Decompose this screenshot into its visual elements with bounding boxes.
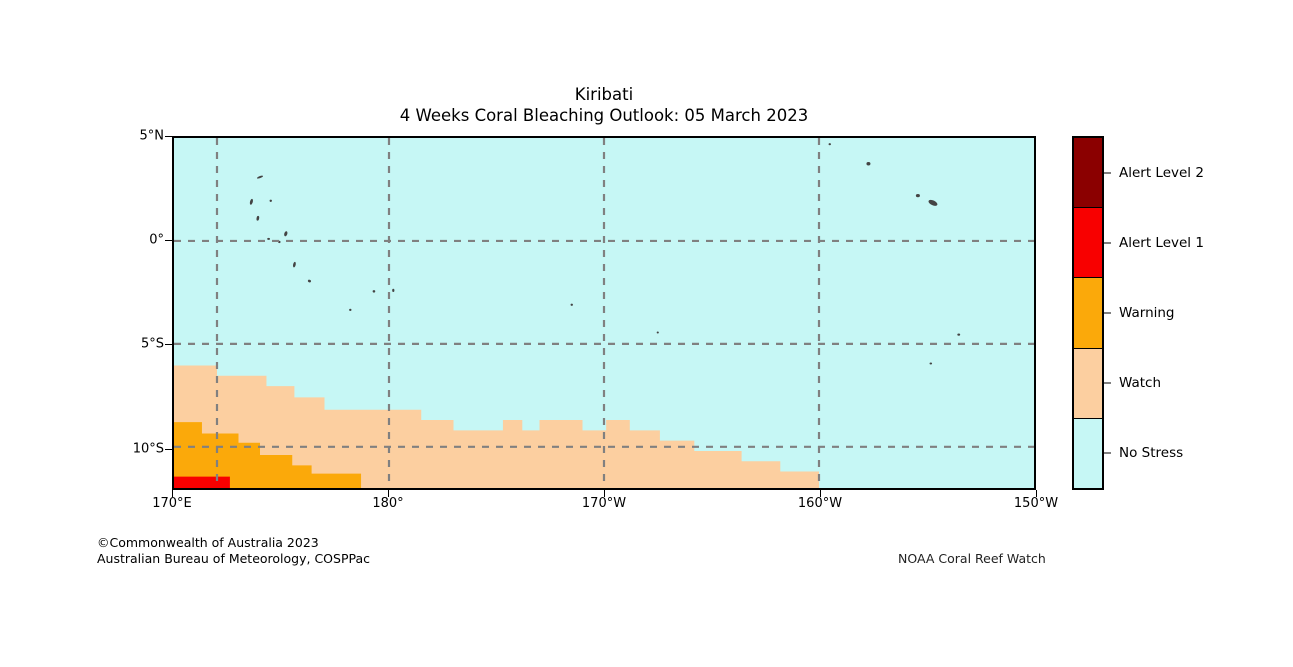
island-marker [866,162,870,165]
island-marker [392,289,394,292]
copyright-line-1: ©Commonwealth of Australia 2023 [97,535,370,551]
legend-swatch-watch[interactable] [1074,349,1102,419]
island-marker [270,200,272,202]
island-marker [916,194,920,197]
ytick-label-5s: 5°S [141,337,164,352]
y-axis-tick-labels: 5°N 0° 5°S 10°S [88,136,164,490]
attribution-notice: NOAA Coral Reef Watch [898,551,1046,566]
ytick-mark-5s [165,344,172,345]
island-marker [957,334,960,336]
island-marker [829,143,831,145]
legend-labels: Alert Level 2Alert Level 1WarningWatchNo… [1104,136,1284,490]
chart-subtitle: 4 Weeks Coral Bleaching Outlook: 05 Marc… [172,105,1036,126]
map-plot-area[interactable] [172,136,1036,490]
figure-canvas: Kiribati 4 Weeks Coral Bleaching Outlook… [0,0,1293,667]
ytick-label-5n: 5°N [140,129,165,144]
coral-bleaching-heatmap [174,138,1034,488]
island-marker [373,290,376,292]
legend-label-warning: Warning [1119,305,1175,321]
x-axis-tick-labels: 170°E 180° 170°W 160°W 150°W [172,496,1036,518]
xtick-label-150w: 150°W [1014,496,1058,511]
legend-label-no-stress: No Stress [1119,445,1183,461]
xtick-label-170e: 170°E [152,496,192,511]
ytick-mark-5n [165,136,172,137]
page-title: Kiribati [172,84,1036,105]
xtick-label-160w: 160°W [798,496,842,511]
ytick-mark-0 [165,240,172,241]
ytick-mark-10s [165,449,172,450]
legend-swatch-no-stress[interactable] [1074,419,1102,488]
legend-tick-no-stress [1104,453,1111,454]
legend-label-watch: Watch [1119,375,1161,391]
legend-label-alert-level-2: Alert Level 2 [1119,165,1204,181]
xtick-label-180: 180° [372,496,403,511]
ytick-label-10s: 10°S [133,441,164,456]
ytick-label-0: 0° [149,233,164,248]
legend-tick-warning [1104,313,1111,314]
legend-swatch-alert-level-1[interactable] [1074,208,1102,278]
island-marker [267,238,270,240]
island-marker [349,309,351,311]
legend-swatch-warning[interactable] [1074,278,1102,348]
region-alert-level-1 [174,477,230,488]
legend-tick-watch [1104,383,1111,384]
legend-colorbar[interactable] [1072,136,1104,490]
legend-swatch-alert-level-2[interactable] [1074,138,1102,208]
island-marker [657,332,659,334]
copyright-line-2: Australian Bureau of Meteorology, COSPPa… [97,551,370,567]
legend-tick-alert-level-2 [1104,173,1111,174]
legend-label-alert-level-1: Alert Level 1 [1119,235,1204,251]
island-marker [571,304,573,306]
legend-tick-alert-level-1 [1104,243,1111,244]
xtick-label-170w: 170°W [582,496,626,511]
island-marker [930,362,933,364]
chart-title-block: Kiribati 4 Weeks Coral Bleaching Outlook… [172,84,1036,126]
copyright-notice: ©Commonwealth of Australia 2023 Australi… [97,535,370,566]
